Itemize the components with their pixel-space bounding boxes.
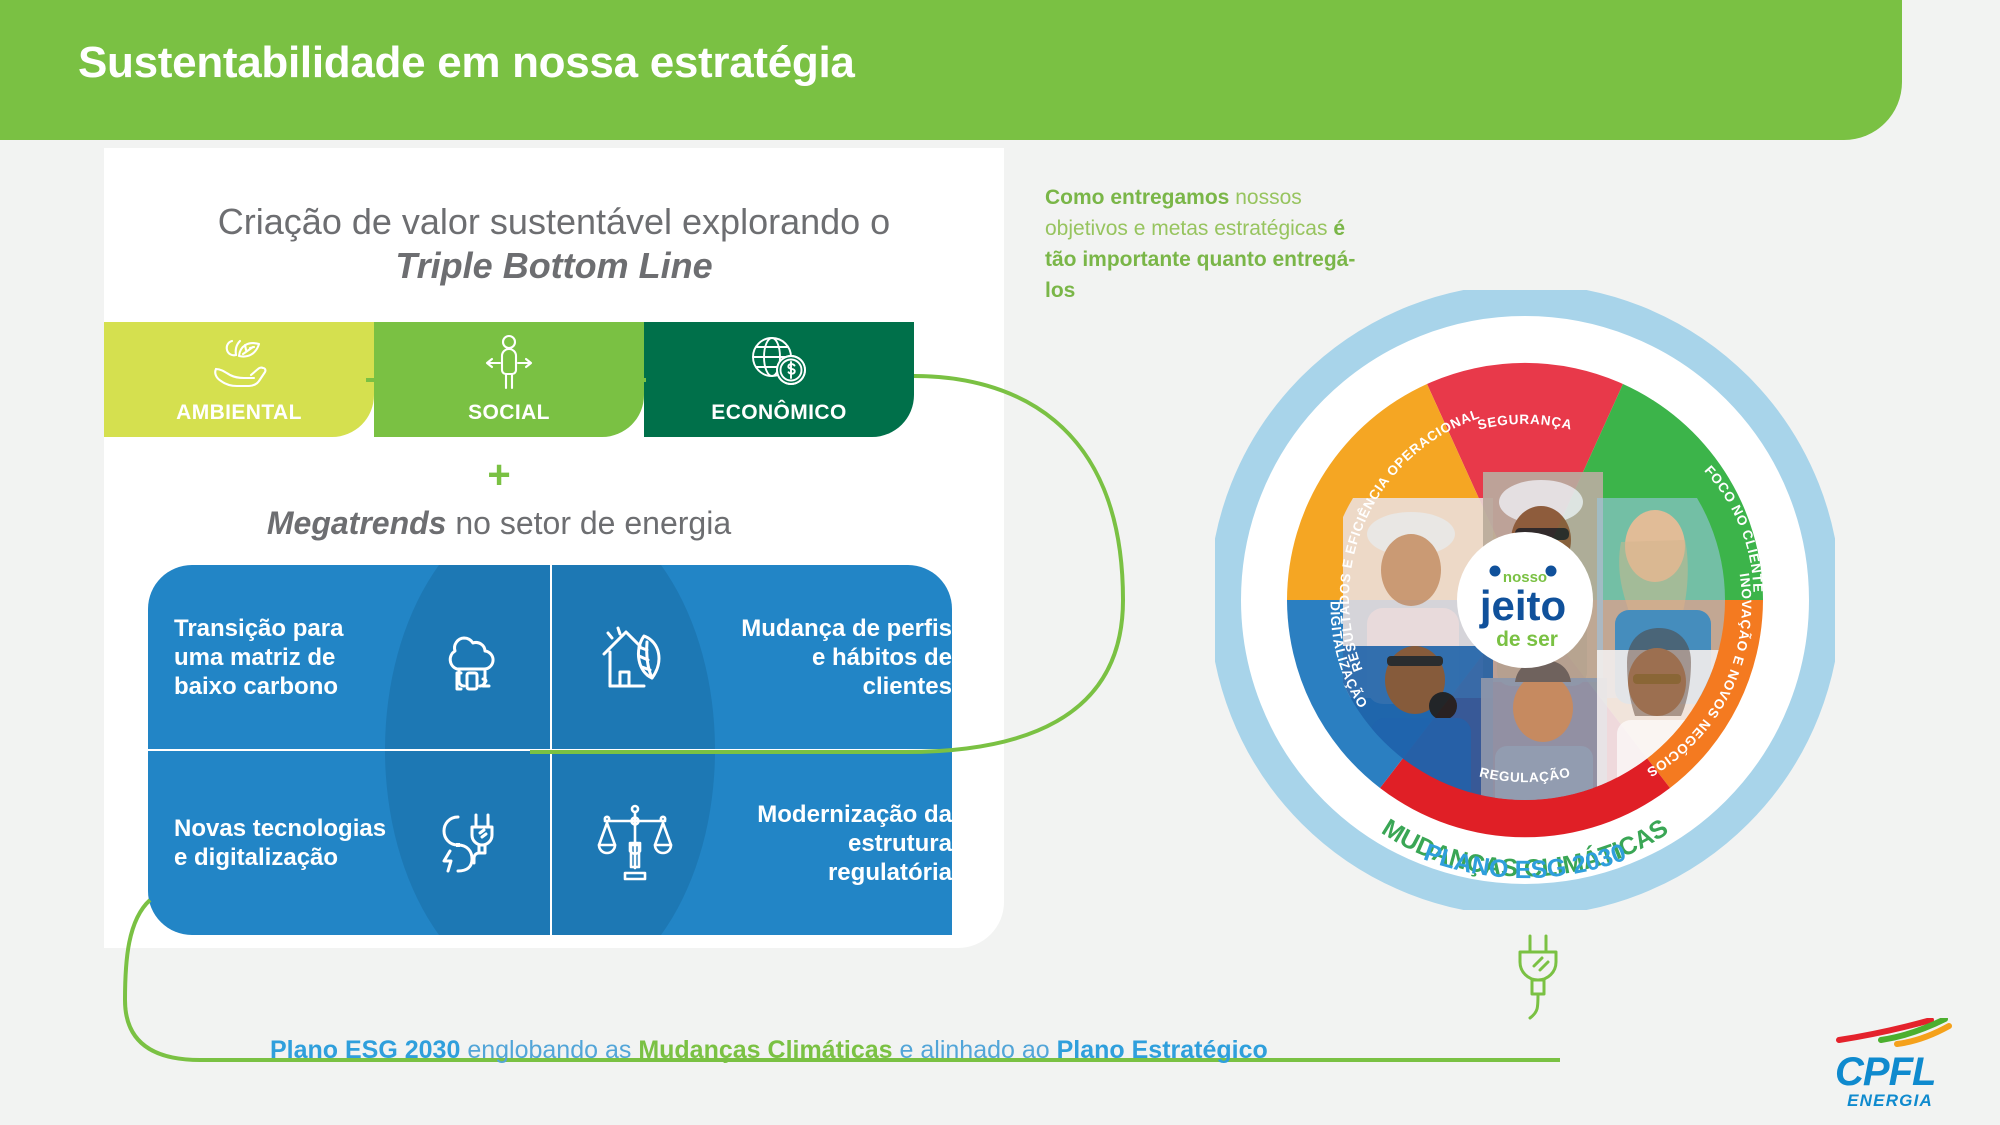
power-plug-icon <box>1510 930 1580 1040</box>
cpfl-logo: CPFL ENERGIA <box>1835 1018 1975 1096</box>
caption-plano-esg: Plano ESG 2030 <box>270 1036 460 1064</box>
person-arrows-icon <box>374 332 644 392</box>
grid-horizontal-divider <box>148 749 952 751</box>
megatrend-cell-regulation[interactable]: Modernização da estrutura regulatória <box>550 751 952 935</box>
cpfl-subtitle: ENERGIA <box>1835 1091 1933 1111</box>
megatrends-grid: Transição para uma matriz de baixo carbo… <box>148 565 952 935</box>
caption-englobando: englobando as <box>460 1036 638 1064</box>
caption-alinhado: e alinhado ao <box>893 1036 1057 1064</box>
plug-cord-icon <box>386 803 550 883</box>
logo-de-ser: de ser <box>1496 628 1558 651</box>
megatrend-cell-new-tech[interactable]: Novas tecnologias e digitalização <box>148 751 550 935</box>
jeito-de-ser-wheel: SEGURANÇA FOCO NO CLIENTE INOVAÇÃO E NOV… <box>1215 290 1835 910</box>
megatrend-cell-client-habits[interactable]: Mudança de perfis e hábitos de clientes <box>550 565 952 749</box>
page-header: Sustentabilidade em nossa estratégia <box>0 0 1902 140</box>
scales-icon <box>550 801 720 885</box>
pillar-card-social[interactable]: SOCIAL <box>374 322 644 437</box>
person-manager-man <box>1481 660 1607 808</box>
right-intro-text: Como entregamos nossos objetivos e metas… <box>1045 182 1375 306</box>
caption-plano-estrategico: Plano Estratégico <box>1057 1036 1268 1064</box>
megatrends-heading-rest: no setor de energia <box>446 505 731 541</box>
megatrends-heading-bold: Megatrends <box>267 505 447 541</box>
pillar-divider-1 <box>366 378 376 382</box>
pillar-divider-2 <box>636 378 646 382</box>
pillar-card-ambiental[interactable]: AMBIENTAL <box>104 322 374 437</box>
triple-bottom-line-heading: Criação de valor sustentável explorando … <box>104 200 1004 288</box>
megatrend-label-1: Mudança de perfis e hábitos de clientes <box>732 614 952 701</box>
caption-mudancas: Mudanças Climáticas <box>638 1036 892 1064</box>
page-title: Sustentabilidade em nossa estratégia <box>78 38 855 88</box>
pillar-card-economico[interactable]: ECONÔMICO <box>644 322 914 437</box>
pillar-label-ambiental: AMBIENTAL <box>104 401 374 425</box>
megatrend-label-3: Modernização da estrutura regulatória <box>732 800 952 887</box>
plus-symbol: + <box>104 455 894 495</box>
bottom-caption: Plano ESG 2030 englobando as Mudanças Cl… <box>270 1035 1268 1065</box>
globe-dollar-icon <box>644 332 914 392</box>
plant-in-hand-icon <box>104 332 374 392</box>
cpfl-swoosh-icon <box>1835 1018 1965 1048</box>
heading-line-1: Criação de valor sustentável explorando … <box>104 200 1004 244</box>
house-leaf-icon <box>550 618 720 696</box>
right-text-bold-1: Como entregamos <box>1045 186 1229 209</box>
co2-cloud-icon <box>386 619 550 695</box>
logo-jeito: jeito <box>1479 582 1566 629</box>
megatrend-cell-low-carbon[interactable]: Transição para uma matriz de baixo carbo… <box>148 565 550 749</box>
pillar-label-economico: ECONÔMICO <box>644 401 914 425</box>
megatrend-label-0: Transição para uma matriz de baixo carbo… <box>174 614 386 701</box>
megatrend-label-2: Novas tecnologias e digitalização <box>174 814 386 872</box>
heading-line-2: Triple Bottom Line <box>104 244 1004 288</box>
pillar-label-social: SOCIAL <box>374 401 644 425</box>
center-logo: nosso jeito de ser <box>1457 532 1593 668</box>
cpfl-wordmark: CPFL <box>1835 1053 1975 1091</box>
megatrends-heading: Megatrends no setor de energia <box>104 503 894 543</box>
